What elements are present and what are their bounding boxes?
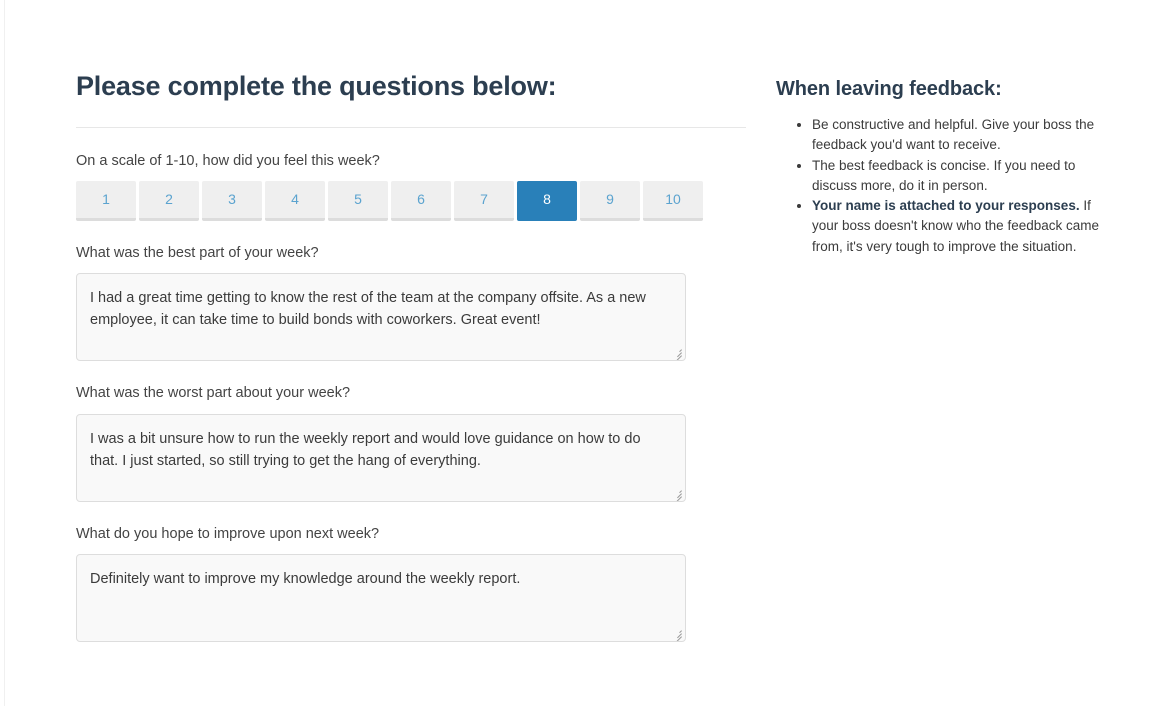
page-left-edge-rule [4, 0, 5, 706]
question-block-worst-part: What was the worst part about your week?… [76, 383, 746, 501]
scale-button-4[interactable]: 4 [265, 181, 325, 221]
tip-item-1: Be constructive and helpful. Give your b… [812, 115, 1106, 156]
resize-handle-icon[interactable] [670, 487, 682, 499]
scale-button-10[interactable]: 10 [643, 181, 703, 221]
tip-item-2: The best feedback is concise. If you nee… [812, 156, 1106, 197]
question-label-worst-part: What was the worst part about your week? [76, 383, 746, 403]
scale-question-block: On a scale of 1-10, how did you feel thi… [76, 151, 746, 221]
question-label-best-part: What was the best part of your week? [76, 243, 746, 263]
question-block-best-part: What was the best part of your week? I h… [76, 243, 746, 361]
scale-button-6[interactable]: 6 [391, 181, 451, 221]
title-divider [76, 127, 746, 128]
tip-text-2: The best feedback is concise. If you nee… [812, 158, 1075, 193]
tip-bold-3: Your name is attached to your responses. [812, 198, 1080, 213]
feedback-tips-list: Be constructive and helpful. Give your b… [776, 115, 1106, 257]
tip-item-3: Your name is attached to your responses.… [812, 196, 1106, 257]
answer-text-best-part: I had a great time getting to know the r… [90, 290, 646, 328]
rating-scale-group[interactable]: 1 2 3 4 5 6 7 8 9 10 [76, 181, 746, 221]
question-block-improve: What do you hope to improve upon next we… [76, 524, 746, 642]
scale-button-7[interactable]: 7 [454, 181, 514, 221]
scale-button-8[interactable]: 8 [517, 181, 577, 221]
page-title: Please complete the questions below: [76, 70, 746, 104]
feedback-form-page: Please complete the questions below: On … [0, 0, 1173, 706]
answer-textarea-worst-part[interactable]: I was a bit unsure how to run the weekly… [76, 414, 686, 502]
scale-button-1[interactable]: 1 [76, 181, 136, 221]
scale-button-3[interactable]: 3 [202, 181, 262, 221]
scale-button-9[interactable]: 9 [580, 181, 640, 221]
feedback-tips-sidebar: When leaving feedback: Be constructive a… [776, 78, 1106, 257]
sidebar-title: When leaving feedback: [776, 78, 1106, 101]
scale-question-label: On a scale of 1-10, how did you feel thi… [76, 151, 746, 171]
answer-textarea-best-part[interactable]: I had a great time getting to know the r… [76, 273, 686, 361]
tip-text-1: Be constructive and helpful. Give your b… [812, 117, 1094, 152]
scale-button-2[interactable]: 2 [139, 181, 199, 221]
question-label-improve: What do you hope to improve upon next we… [76, 524, 746, 544]
answer-text-improve: Definitely want to improve my knowledge … [90, 571, 520, 587]
resize-handle-icon[interactable] [670, 346, 682, 358]
main-form-column: Please complete the questions below: On … [76, 70, 746, 642]
scale-button-5[interactable]: 5 [328, 181, 388, 221]
answer-textarea-improve[interactable]: Definitely want to improve my knowledge … [76, 554, 686, 642]
resize-handle-icon[interactable] [670, 627, 682, 639]
answer-text-worst-part: I was a bit unsure how to run the weekly… [90, 431, 641, 469]
